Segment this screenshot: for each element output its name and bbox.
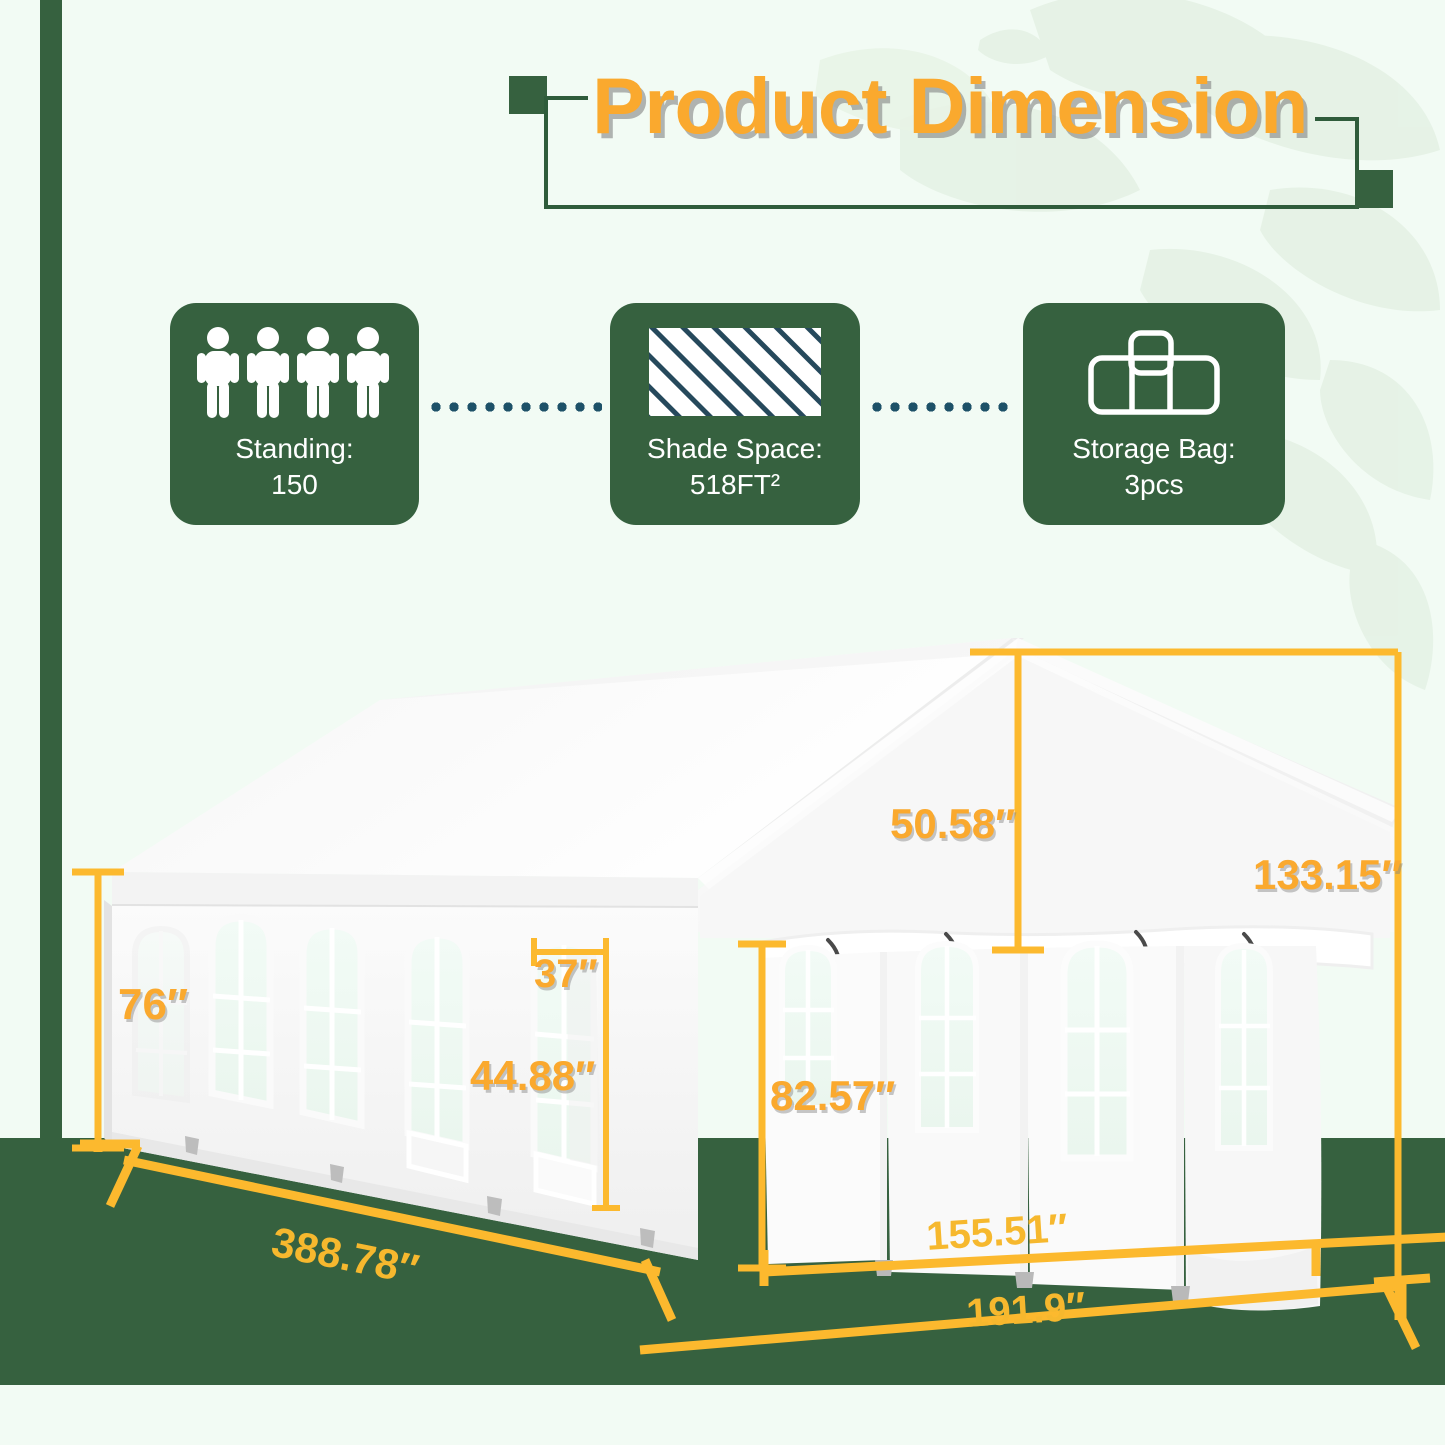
dimension-label-front-wall-height: 82.57″: [770, 1072, 895, 1120]
feature-badge-standing-label: Standing: 150: [170, 431, 419, 503]
dimension-label-gable-peak-height: 50.58″: [890, 800, 1015, 848]
tent-drawing: [0, 560, 1445, 1445]
dimension-label-total-height: 133.15″: [1253, 851, 1402, 899]
dimension-label-door-opening-width: 155.51″: [925, 1206, 1069, 1260]
feature-badge-storage-bag-label: Storage Bag: 3pcs: [1023, 431, 1285, 503]
feature-label-line2: 150: [170, 467, 419, 503]
dimension-label-window-width: 37″: [534, 952, 598, 997]
title-decor-square-bottom-right: [1355, 170, 1393, 208]
page-title-block: Product Dimension: [500, 60, 1400, 210]
dimension-label-window-height: 44.88″: [470, 1052, 595, 1100]
hatched-rectangle-icon: [610, 323, 860, 421]
feature-label-line1: Standing:: [170, 431, 419, 467]
connector-dotted-line-2: [868, 402, 1016, 412]
page-title: Product Dimension: [500, 60, 1400, 152]
dimension-label-side-wall-height: 76″: [118, 980, 188, 1030]
feature-badge-shade-space: Shade Space: 518FT²: [610, 303, 860, 525]
title-decor-line-bottom-horizontal: [544, 205, 1359, 209]
connector-dotted-line-1: [427, 402, 602, 412]
dimension-label-total-width: 191.9″: [965, 1285, 1087, 1337]
feature-label-line2: 518FT²: [610, 467, 860, 503]
feature-label-line2: 3pcs: [1023, 467, 1285, 503]
feature-badge-standing: Standing: 150: [170, 303, 419, 525]
people-standing-icon: [170, 323, 419, 421]
feature-badge-shade-space-label: Shade Space: 518FT²: [610, 431, 860, 503]
feature-label-line1: Shade Space:: [610, 431, 860, 467]
feature-label-line1: Storage Bag:: [1023, 431, 1285, 467]
product-illustration: [0, 560, 1445, 1445]
storage-bag-icon: [1023, 323, 1285, 421]
feature-badge-storage-bag: Storage Bag: 3pcs: [1023, 303, 1285, 525]
infographic-canvas: Product Dimension: [0, 0, 1445, 1445]
feature-badge-row: Standing: 150 Shade Space: [170, 303, 1285, 528]
